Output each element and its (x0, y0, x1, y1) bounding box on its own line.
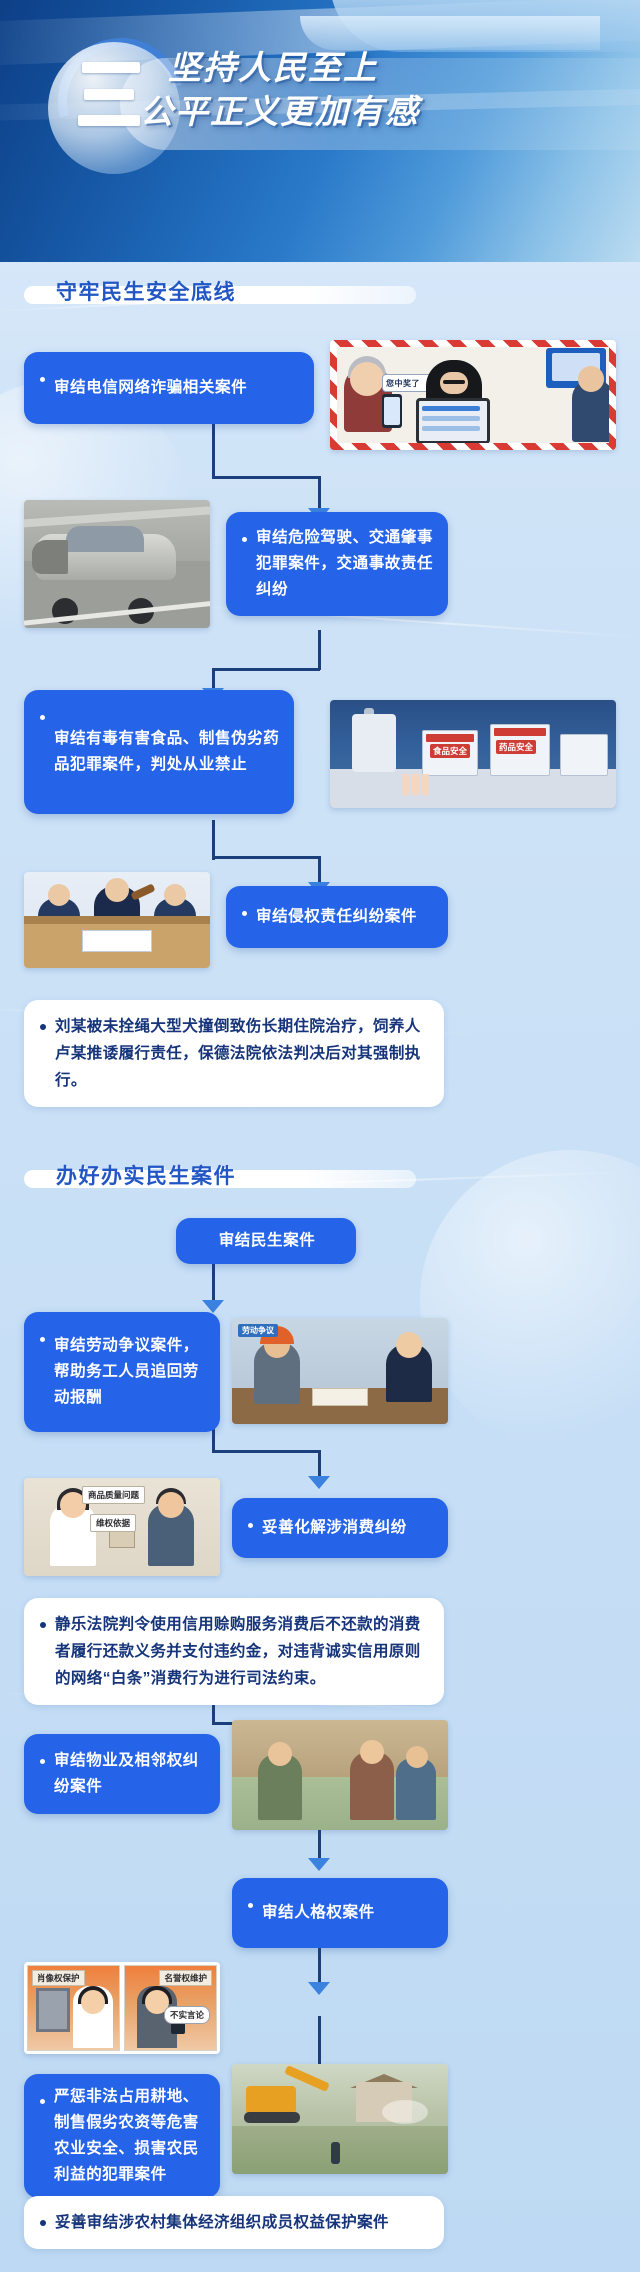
illustration-label-reputation-rights: 名誉权维护 (159, 1970, 212, 1986)
illustration-neighbor-dispute (232, 1720, 448, 1830)
bullet-dot-icon (40, 377, 45, 382)
bullet-dot-icon (40, 1337, 45, 1342)
connector-spine (212, 668, 320, 671)
connector-spine (212, 476, 320, 479)
illustration-telecom-scam: 您中奖了 (330, 340, 616, 450)
case-card-food-drug-crime[interactable]: 审结有毒有害食品、制售伪劣药品犯罪案件，判处从业禁止 (24, 690, 294, 814)
illustration-courtroom (24, 872, 210, 968)
header-cloud-decoration-2 (300, 16, 600, 50)
case-card-agricultural-crime[interactable]: 严惩非法占用耕地、制售假劣农资等危害农业安全、损害农民利益的犯罪案件 (24, 2074, 220, 2198)
illustration-label-product-quality: 商品质量问题 (82, 1486, 145, 1504)
case-card-dangerous-driving-text: 审结危险驾驶、交通肇事犯罪案件，交通事故责任纠纷 (256, 525, 434, 603)
case-card-property-neighbor[interactable]: 审结物业及相邻权纠纷案件 (24, 1734, 220, 1814)
case-card-personality-rights[interactable]: 审结人格权案件 (232, 1878, 448, 1948)
section-label-2-text: 办好办实民生案件 (56, 1160, 236, 1190)
illustration-traffic-crash (24, 500, 210, 628)
bullet-dot-icon (40, 715, 45, 720)
connector-spine (212, 856, 320, 859)
case-card-food-drug-crime-text: 审结有毒有害食品、制售伪劣药品犯罪案件，判处从业禁止 (54, 726, 280, 778)
case-detail-dog-injury-text: 刘某被未拴绳大型犬撞倒致伤长期住院治疗，饲养人卢某推诿履行责任，保德法院依法判决… (55, 1013, 428, 1094)
comic-pane-portrait-rights: 肖像权保护 (27, 1965, 120, 2051)
arrow-down-icon (308, 1476, 330, 1489)
illustration-label-food-safety: 食品安全 (430, 744, 470, 758)
case-card-consumer-dispute-text: 妥善化解涉消费纠纷 (262, 1515, 407, 1541)
bullet-dot-icon (40, 2099, 45, 2104)
bullet-dot-icon (248, 1523, 253, 1528)
page-title-line-1: 坚持人民至上 (168, 46, 420, 90)
case-card-telecom-fraud[interactable]: 审结电信网络诈骗相关案件 (24, 352, 314, 424)
section-label-1-text: 守牢民生安全底线 (56, 276, 236, 306)
arrow-down-icon (308, 1858, 330, 1871)
case-card-labor-dispute-text: 审结劳动争议案件，帮助务工人员追回劳动报酬 (54, 1333, 206, 1411)
illustration-label-drug-safety: 药品安全 (496, 740, 536, 754)
illustration-farmland-occupation (232, 2064, 448, 2174)
illustration-labor-service: 劳动争议 (232, 1318, 448, 1424)
illustration-personality-rights-comic: 肖像权保护 名誉权维护 不实言论 (24, 1962, 220, 2054)
case-detail-rural-collective-rights: 妥善审结涉农村集体经济组织成员权益保护案件 (24, 2196, 444, 2249)
case-detail-credit-purchase-text: 静乐法院判令使用信用赊购服务消费后不还款的消费者履行还款义务并支付违约金，对违背… (55, 1611, 428, 1692)
section-numeral-three-icon (78, 62, 140, 126)
bullet-dot-icon (248, 1903, 253, 1908)
connector-spine (318, 476, 321, 512)
case-card-telecom-fraud-text: 审结电信网络诈骗相关案件 (54, 375, 247, 401)
case-card-property-neighbor-text: 审结物业及相邻权纠纷案件 (54, 1748, 206, 1800)
case-card-personality-rights-text: 审结人格权案件 (262, 1900, 375, 1926)
bullet-dot-icon (242, 911, 247, 916)
page-title-line-2: 公平正义更加有感 (140, 90, 420, 134)
infographic-page: 坚持人民至上 公平正义更加有感 守牢民生安全底线 审结电信网络诈骗相关案件 (0, 0, 640, 2272)
illustration-inspection-lab: 食品安全 药品安全 (330, 700, 616, 808)
arrow-down-icon (308, 1982, 330, 1995)
connector-spine (212, 1264, 215, 1304)
page-header: 坚持人民至上 公平正义更加有感 (0, 0, 640, 262)
connector-spine (212, 1450, 320, 1453)
case-card-tort-liability[interactable]: 审结侵权责任纠纷案件 (226, 886, 448, 948)
case-card-tort-liability-text: 审结侵权责任纠纷案件 (256, 904, 417, 930)
bullet-dot-icon (40, 2220, 46, 2226)
illustration-label-labor-dispute: 劳动争议 (238, 1324, 278, 1337)
bullet-dot-icon (40, 1622, 46, 1628)
case-detail-dog-injury: 刘某被未拴绳大型犬撞倒致伤长期住院治疗，饲养人卢某推诿履行责任，保德法院依法判决… (24, 1000, 444, 1107)
case-detail-rural-collective-rights-text: 妥善审结涉农村集体经济组织成员权益保护案件 (55, 2209, 389, 2236)
section-label-2: 办好办实民生案件 (24, 1160, 416, 1190)
background-blob (420, 1150, 640, 1450)
illustration-consumer-rights: 商品质量问题 维权依据 (24, 1478, 220, 1576)
illustration-label-portrait-rights: 肖像权保护 (32, 1970, 85, 1986)
case-card-labor-dispute[interactable]: 审结劳动争议案件，帮助务工人员追回劳动报酬 (24, 1312, 220, 1432)
connector-spine (212, 820, 215, 860)
case-card-consumer-dispute[interactable]: 妥善化解涉消费纠纷 (232, 1498, 448, 1558)
connector-spine (318, 630, 321, 670)
case-card-agricultural-crime-text: 严惩非法占用耕地、制售假劣农资等危害农业安全、损害农民利益的犯罪案件 (54, 2084, 206, 2188)
illustration-label-rights-basis: 维权依据 (90, 1514, 136, 1532)
connector-spine (212, 420, 215, 476)
bullet-dot-icon (40, 1024, 46, 1030)
bullet-dot-icon (40, 1759, 45, 1764)
page-title: 坚持人民至上 公平正义更加有感 (168, 46, 420, 134)
case-pill-livelihood-cases-text: 审结民生案件 (219, 1228, 316, 1254)
illustration-label-false-statement: 不实言论 (164, 2006, 210, 2024)
case-card-dangerous-driving[interactable]: 审结危险驾驶、交通肇事犯罪案件，交通事故责任纠纷 (226, 512, 448, 616)
case-pill-livelihood-cases[interactable]: 审结民生案件 (176, 1218, 356, 1264)
section-label-1: 守牢民生安全底线 (24, 276, 416, 306)
bullet-dot-icon (242, 537, 247, 542)
comic-pane-reputation-rights: 名誉权维护 不实言论 (124, 1965, 217, 2051)
case-detail-credit-purchase: 静乐法院判令使用信用赊购服务消费后不还款的消费者履行还款义务并支付违约金，对违背… (24, 1598, 444, 1705)
